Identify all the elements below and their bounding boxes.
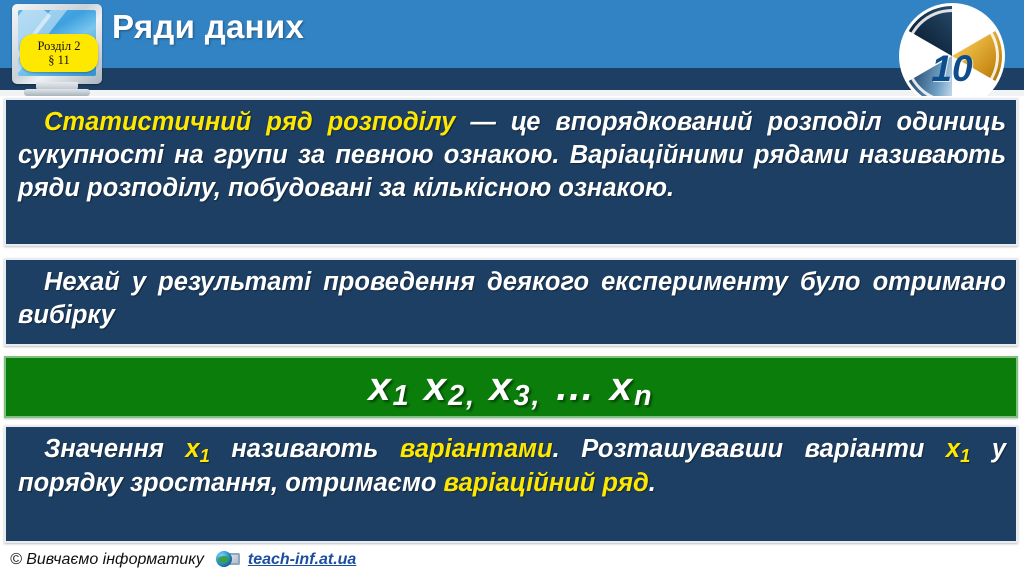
monitor-base <box>24 89 90 96</box>
slide-footer: © Вивчаємо інформатику teach-inf.at.ua <box>0 546 1024 574</box>
formula-sep1 <box>411 365 424 409</box>
formula-sub2: 2, <box>448 380 476 412</box>
logo-grade-number: 10 <box>902 6 1002 96</box>
definition-term: Статистичний ряд розподілу <box>44 108 455 136</box>
section-number: § 11 <box>48 53 69 67</box>
slide-header: Розділ 2 § 11 Ряди даних 10 <box>0 0 1024 96</box>
variants-x-2-sub: 1 <box>960 445 970 466</box>
formula-sub1: 1 <box>393 380 411 412</box>
page-title: Ряди даних <box>112 8 304 46</box>
formula-block: x1 x2, x3, … xn <box>4 356 1018 418</box>
statement-text: Нехай у результаті проведення деякого ек… <box>6 260 1016 338</box>
variants-x-1-sub: 1 <box>200 445 210 466</box>
formula-subn: n <box>634 380 654 412</box>
variants-term-1: варіантами <box>400 435 553 463</box>
variants-t3: . Розташувавши варіанти <box>553 435 946 463</box>
header-band <box>0 68 1024 90</box>
formula-sep2 <box>476 365 489 409</box>
sample-formula: x1 x2, x3, … xn <box>368 365 653 410</box>
footer-copyright: © Вивчаємо інформатику <box>10 551 204 569</box>
formula-x2: x <box>424 365 448 409</box>
statement-block: Нехай у результаті проведення деякого ек… <box>4 258 1018 346</box>
course-logo-icon: 10 <box>902 6 1002 96</box>
variants-t1: Значення <box>44 435 185 463</box>
globe-icon <box>216 551 232 567</box>
formula-ellipsis: … <box>542 365 610 409</box>
statement-body: Нехай у результаті проведення деякого ек… <box>18 268 1006 329</box>
formula-xn: x <box>610 365 634 409</box>
formula-x1: x <box>368 365 392 409</box>
header-divider <box>0 90 1024 96</box>
variants-t2: називають <box>210 435 400 463</box>
variants-text: Значення x1 називають варіантами. Розташ… <box>6 427 1016 506</box>
definition-text: Статистичний ряд розподілу — це впорядко… <box>6 100 1016 211</box>
monitor-icon: Розділ 2 § 11 <box>6 2 108 96</box>
variants-x-1: x <box>185 435 199 463</box>
chapter-badge: Розділ 2 § 11 <box>20 34 98 72</box>
definition-block: Статистичний ряд розподілу — це впорядко… <box>4 98 1018 246</box>
variants-t5: . <box>649 469 656 497</box>
footer-website-link[interactable]: teach-inf.at.ua <box>248 551 356 569</box>
globe-monitor-icon <box>216 550 240 570</box>
formula-sub3: 3, <box>513 380 541 412</box>
formula-x3: x <box>489 365 513 409</box>
variants-term-2: варіаційний ряд <box>444 469 649 497</box>
variants-block: Значення x1 називають варіантами. Розташ… <box>4 425 1018 543</box>
variants-x-2: x <box>946 435 960 463</box>
chapter-number: Розділ 2 <box>37 39 80 53</box>
